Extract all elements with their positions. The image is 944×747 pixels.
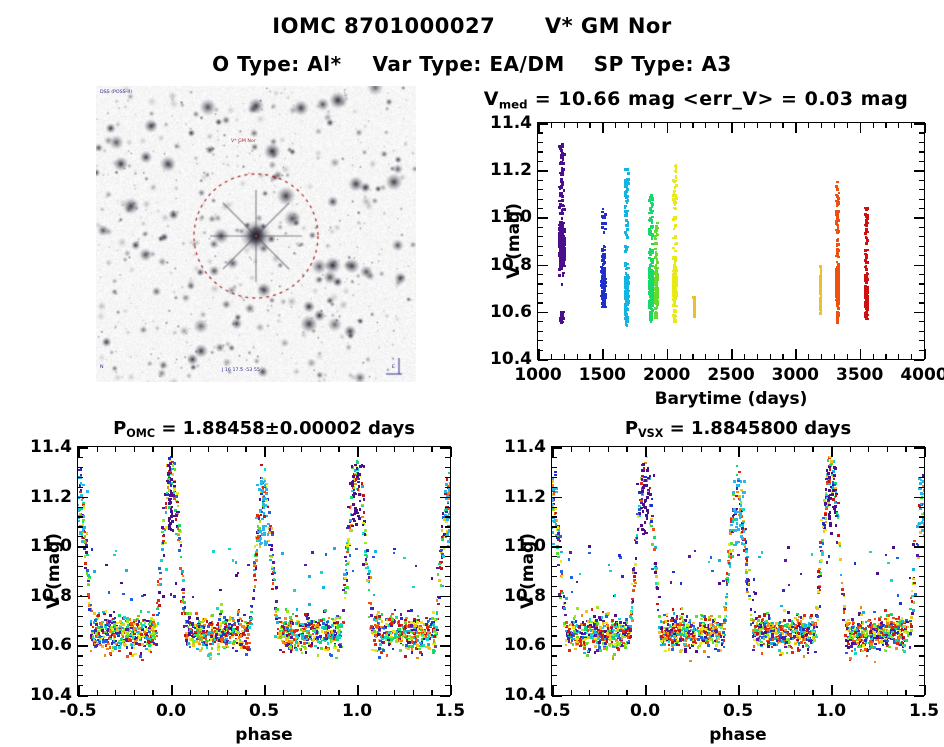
data-point	[836, 261, 839, 264]
data-point	[319, 641, 322, 644]
axis-tick	[538, 331, 543, 332]
data-point	[424, 632, 427, 635]
data-point	[265, 493, 268, 496]
data-point	[273, 578, 276, 581]
axis-tick	[615, 123, 616, 128]
data-point	[672, 218, 675, 221]
data-point	[791, 651, 794, 654]
data-point	[393, 548, 396, 551]
axis-tick	[538, 161, 543, 162]
data-point	[342, 621, 345, 624]
data-point	[196, 648, 199, 651]
data-point	[836, 244, 839, 247]
data-point	[136, 631, 139, 634]
axis-tick	[283, 690, 284, 695]
data-point	[310, 644, 313, 647]
axis-tick	[338, 447, 339, 452]
data-point	[145, 636, 148, 639]
data-point	[188, 616, 191, 619]
data-point	[173, 485, 176, 488]
data-point	[654, 256, 657, 259]
data-point	[114, 636, 117, 639]
data-point	[222, 631, 225, 634]
data-point	[271, 568, 274, 571]
data-point	[163, 554, 166, 557]
data-point	[648, 219, 651, 222]
data-point	[449, 491, 450, 494]
data-point	[784, 624, 787, 627]
phase-vsx-title-rest: = 1.8845800 days	[663, 418, 851, 439]
data-point	[407, 648, 410, 651]
axis-tick	[190, 447, 191, 452]
data-point	[254, 585, 257, 588]
data-point	[235, 650, 238, 653]
axis-tick	[283, 447, 284, 452]
data-point	[819, 265, 822, 268]
data-point	[836, 314, 839, 317]
data-point	[556, 552, 559, 555]
data-point	[650, 318, 653, 321]
data-point	[866, 275, 869, 278]
data-point	[601, 290, 604, 293]
data-point	[836, 320, 839, 323]
axis-tick	[78, 576, 83, 577]
data-point	[864, 293, 867, 296]
data-point	[255, 551, 258, 554]
axis-tick	[919, 132, 924, 133]
data-point	[106, 633, 109, 636]
data-point	[656, 293, 659, 296]
axis-tick	[919, 293, 924, 294]
phase-omc-plot-area	[78, 447, 450, 695]
data-point	[368, 570, 371, 573]
data-point	[119, 629, 122, 632]
data-point	[195, 612, 198, 615]
axis-tick	[538, 227, 543, 228]
data-point	[261, 489, 264, 492]
data-point	[247, 633, 250, 636]
data-point	[673, 264, 676, 267]
data-point	[121, 627, 124, 630]
data-point	[317, 647, 320, 650]
axis-tick	[78, 526, 83, 527]
data-point	[205, 635, 208, 638]
data-point	[131, 647, 134, 650]
data-point	[351, 484, 354, 487]
data-point	[152, 632, 155, 635]
data-point	[349, 529, 352, 532]
data-point	[255, 517, 258, 520]
axis-tick	[171, 447, 173, 457]
data-point	[560, 320, 563, 323]
data-point	[356, 467, 359, 470]
data-point	[265, 498, 268, 501]
data-point	[561, 173, 564, 176]
axis-tick	[577, 354, 578, 359]
data-point	[650, 311, 653, 314]
data-point	[358, 485, 361, 488]
data-point	[322, 586, 325, 589]
data-point	[416, 644, 419, 647]
data-point	[336, 621, 339, 624]
data-point	[208, 623, 211, 626]
data-point	[244, 640, 247, 643]
data-point	[725, 602, 728, 605]
data-point	[837, 269, 840, 272]
data-point	[116, 632, 119, 635]
data-point	[252, 597, 255, 600]
data-point	[362, 563, 365, 566]
data-point	[211, 647, 214, 650]
data-point	[109, 652, 112, 655]
data-point	[337, 631, 340, 634]
data-point	[334, 644, 337, 647]
data-point	[819, 546, 822, 549]
data-point	[625, 183, 628, 186]
data-point	[196, 634, 199, 637]
data-point	[359, 500, 362, 503]
data-point	[427, 646, 430, 649]
data-point	[382, 649, 385, 652]
data-point	[650, 283, 653, 286]
data-point	[363, 511, 366, 514]
data-point	[247, 564, 250, 567]
data-point	[114, 617, 117, 620]
data-point	[205, 644, 208, 647]
data-point	[113, 623, 116, 626]
data-point	[434, 645, 437, 648]
phase-omc-title-symbol: P	[113, 418, 126, 439]
data-point	[602, 296, 605, 299]
data-point	[269, 559, 272, 562]
data-point	[267, 506, 270, 509]
data-point	[311, 620, 314, 623]
data-point	[342, 589, 345, 592]
data-point	[113, 554, 116, 557]
axis-tick	[757, 354, 758, 359]
data-point	[407, 641, 410, 644]
data-point	[138, 628, 141, 631]
axis-tick	[692, 123, 693, 128]
data-point	[101, 645, 104, 648]
data-point	[675, 180, 678, 183]
axis-tick	[208, 690, 209, 695]
data-point	[390, 625, 393, 628]
finder-label-north: N	[100, 364, 104, 370]
data-point	[147, 611, 150, 614]
data-point	[129, 634, 132, 637]
data-point	[208, 653, 211, 656]
data-point	[157, 580, 160, 583]
data-point	[290, 650, 293, 653]
data-point	[351, 525, 354, 528]
data-point	[447, 532, 450, 535]
data-point	[604, 228, 607, 231]
finding-chart-image	[96, 86, 416, 382]
axis-tick	[78, 566, 83, 567]
object-type-value: Al*	[307, 52, 341, 76]
data-point	[344, 591, 347, 594]
finder-label-east: E	[392, 364, 395, 370]
data-point	[288, 640, 291, 643]
data-point	[420, 621, 423, 624]
data-point	[211, 631, 214, 634]
data-point	[141, 659, 144, 662]
data-point	[563, 189, 566, 192]
data-point	[126, 617, 129, 620]
data-point	[250, 611, 253, 614]
data-point	[295, 648, 298, 651]
data-point	[357, 488, 360, 491]
axis-tick	[577, 123, 578, 128]
data-point	[624, 293, 627, 296]
data-point	[78, 520, 80, 523]
axis-tick	[413, 447, 414, 452]
data-point	[189, 612, 192, 615]
data-point	[217, 653, 220, 656]
data-point	[651, 233, 654, 236]
data-point	[309, 636, 312, 639]
data-point	[265, 488, 268, 491]
data-point	[199, 629, 202, 632]
data-point	[283, 622, 286, 625]
lightcurve-plot-frame[interactable]: V (mag) Barytime (days) 1000150020002500…	[537, 122, 925, 360]
data-point	[411, 636, 414, 639]
data-point	[405, 617, 408, 620]
data-point	[444, 490, 447, 493]
data-point	[242, 632, 245, 635]
data-point	[368, 589, 371, 592]
data-point	[654, 281, 657, 284]
data-point	[650, 260, 653, 263]
data-point	[674, 259, 677, 262]
data-point	[301, 623, 304, 626]
data-point	[304, 647, 307, 650]
data-point	[307, 624, 310, 627]
data-point	[164, 493, 167, 496]
data-point	[347, 506, 350, 509]
data-point	[286, 627, 289, 630]
axis-tick	[641, 123, 642, 128]
axis-tick	[538, 170, 548, 172]
data-point	[562, 255, 565, 258]
data-point	[561, 236, 564, 239]
data-point	[115, 640, 118, 643]
data-point	[433, 623, 436, 626]
data-point	[373, 594, 376, 597]
data-point	[361, 505, 364, 508]
data-point	[674, 250, 677, 253]
data-point	[562, 262, 565, 265]
axis-tick	[860, 349, 862, 359]
axis-tick	[245, 447, 246, 452]
axis-tick	[795, 349, 797, 359]
data-point	[255, 553, 258, 556]
data-point	[256, 484, 259, 487]
data-point	[162, 519, 165, 522]
axis-tick	[445, 616, 450, 617]
data-point	[364, 529, 367, 532]
data-point	[634, 563, 637, 566]
data-point	[255, 559, 258, 562]
data-point	[129, 652, 132, 655]
axis-tick	[445, 467, 450, 468]
data-point	[220, 610, 223, 613]
data-point	[139, 655, 142, 658]
axis-tick	[445, 685, 450, 686]
data-point	[625, 324, 628, 327]
data-point	[388, 618, 391, 621]
axis-tick	[718, 123, 719, 128]
data-point	[403, 634, 406, 637]
data-point	[431, 577, 434, 580]
data-point	[87, 584, 90, 587]
data-point	[327, 634, 330, 637]
data-point	[626, 280, 629, 283]
data-point	[394, 609, 397, 612]
data-point	[366, 579, 369, 582]
axis-tick	[445, 516, 450, 517]
axis-tick	[538, 199, 543, 200]
axis-tick	[705, 354, 706, 359]
data-point	[304, 564, 307, 567]
data-point	[209, 657, 212, 660]
data-point	[835, 194, 838, 197]
data-point	[159, 572, 162, 575]
data-point	[213, 635, 216, 638]
axis-tick	[78, 507, 83, 508]
data-point	[154, 626, 157, 629]
axis-tick	[538, 321, 543, 322]
x-tick-label: 0.5	[249, 701, 279, 721]
data-point	[353, 520, 356, 523]
axis-tick	[445, 566, 450, 567]
y-tick-label: 11.0	[490, 207, 532, 227]
data-point	[442, 553, 445, 556]
data-point	[312, 624, 315, 627]
data-point	[644, 462, 647, 465]
data-point	[358, 478, 361, 481]
data-point	[162, 595, 165, 598]
axis-tick	[898, 123, 899, 128]
data-point	[625, 224, 628, 227]
data-point	[259, 543, 262, 546]
dss-finding-chart[interactable]: DSS (POSS-II) V* GM Nor J 16 17.5 -53 55…	[96, 86, 416, 382]
data-point	[168, 519, 171, 522]
data-point	[126, 646, 129, 649]
axis-tick	[78, 497, 88, 499]
data-point	[674, 314, 677, 317]
data-point	[78, 469, 80, 472]
axis-tick	[538, 274, 543, 275]
data-point	[314, 645, 317, 648]
axis-tick	[654, 354, 655, 359]
x-tick-label: 3000	[772, 365, 819, 385]
data-point	[864, 279, 867, 282]
data-point	[95, 623, 98, 626]
data-point	[625, 219, 628, 222]
data-point	[552, 480, 554, 483]
data-point	[557, 556, 560, 559]
axis-tick	[782, 123, 783, 128]
axis-tick	[770, 354, 771, 359]
data-point	[102, 640, 105, 643]
data-point	[115, 550, 118, 553]
data-point	[391, 613, 394, 616]
data-point	[819, 308, 822, 311]
axis-tick	[320, 447, 321, 452]
data-point	[168, 457, 171, 460]
data-point	[172, 529, 175, 532]
axis-tick	[911, 354, 912, 359]
data-point	[108, 591, 111, 594]
data-point	[86, 554, 89, 557]
data-point	[835, 287, 838, 290]
data-point	[414, 624, 417, 627]
axis-tick	[78, 556, 83, 557]
data-point	[820, 304, 823, 307]
data-point	[372, 556, 375, 559]
data-point	[325, 646, 328, 649]
data-point	[695, 650, 698, 653]
data-point	[118, 650, 121, 653]
data-point	[834, 501, 837, 504]
data-point	[413, 618, 416, 621]
data-point	[133, 628, 136, 631]
data-point	[367, 573, 370, 576]
data-point	[673, 199, 676, 202]
data-point	[81, 540, 84, 543]
data-point	[182, 575, 185, 578]
data-point	[355, 523, 358, 526]
axis-tick	[538, 132, 543, 133]
phase-vsx-plot-frame[interactable]: V (mag) phase -0.50.00.51.01.510.410.610…	[551, 446, 925, 696]
data-point	[244, 629, 247, 632]
data-point	[264, 468, 267, 471]
data-point	[324, 640, 327, 643]
axis-tick	[78, 645, 88, 647]
axis-tick	[914, 265, 924, 267]
data-point	[362, 524, 365, 527]
data-point	[648, 291, 651, 294]
axis-tick	[860, 123, 862, 133]
axis-tick	[885, 123, 886, 128]
data-point	[355, 493, 358, 496]
axis-tick	[795, 123, 797, 133]
data-point	[249, 621, 252, 624]
data-point	[292, 622, 295, 625]
data-point	[225, 634, 228, 637]
data-point	[783, 609, 786, 612]
data-point	[253, 574, 256, 577]
vmed-symbol: V	[484, 88, 499, 110]
data-point	[90, 604, 93, 607]
data-point	[202, 630, 205, 633]
data-point	[603, 216, 606, 219]
data-point	[865, 242, 868, 245]
data-point	[125, 569, 128, 572]
data-point	[351, 514, 354, 517]
axis-tick	[538, 123, 548, 125]
data-point	[262, 528, 265, 531]
data-point	[448, 488, 450, 491]
data-point	[560, 154, 563, 157]
axis-tick	[919, 227, 924, 228]
phase-omc-plot-frame[interactable]: V (mag) phase -0.50.00.51.01.510.410.610…	[77, 446, 451, 696]
data-point	[97, 635, 100, 638]
axis-tick	[134, 690, 135, 695]
data-point	[601, 270, 604, 273]
